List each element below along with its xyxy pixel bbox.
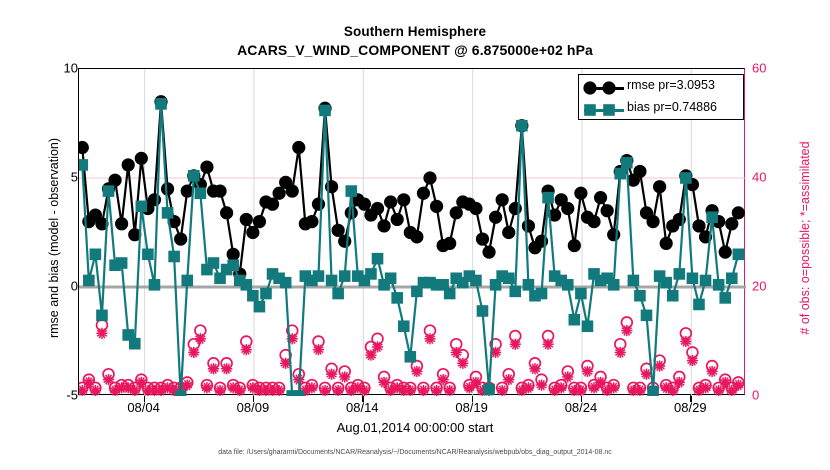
x-tick-mark bbox=[472, 395, 473, 402]
y-axis-label: rmse and bias (model - observation) bbox=[47, 88, 61, 388]
x-tick-mark bbox=[362, 395, 363, 402]
legend-circle-marker-icon bbox=[579, 76, 629, 99]
data-file-caption: data file: /Users/gharamti/Documents/NCA… bbox=[0, 449, 830, 456]
x-tick-label: 08/04 bbox=[127, 400, 160, 415]
figure: Southern Hemisphere ACARS_V_WIND_COMPONE… bbox=[0, 0, 830, 470]
legend-label: rmse pr=3.0953 bbox=[627, 78, 715, 92]
x-tick-label: 08/24 bbox=[565, 400, 598, 415]
y-tick-label: 5 bbox=[18, 170, 78, 185]
x-tick-label: 08/09 bbox=[237, 400, 270, 415]
x-tick-label: 08/19 bbox=[455, 400, 488, 415]
x-tick-label: 08/14 bbox=[346, 400, 379, 415]
y2-tick-label: 0 bbox=[752, 388, 759, 403]
y2-tick-label: 20 bbox=[752, 279, 766, 294]
legend-item[interactable]: rmse pr=3.0953 bbox=[579, 76, 745, 99]
x-tick-label: 08/29 bbox=[674, 400, 707, 415]
y-tick-label: 0 bbox=[18, 279, 78, 294]
y2-tick-label: 40 bbox=[752, 170, 766, 185]
x-tick-mark bbox=[144, 395, 145, 402]
y-tick-label: 10 bbox=[18, 61, 78, 76]
chart-title-line2: ACARS_V_WIND_COMPONENT @ 6.875000e+02 hP… bbox=[0, 42, 830, 58]
x-axis-label: Aug.01,2014 00:00:00 start bbox=[0, 420, 830, 435]
chart-legend: rmse pr=3.0953bias pr=0.74886 bbox=[578, 74, 744, 120]
x-tick-mark bbox=[253, 395, 254, 402]
y2-axis-label: # of obs: o=possible; *=assimilated bbox=[798, 88, 812, 388]
legend-square-marker-icon bbox=[579, 98, 629, 121]
y-tick-label: -5 bbox=[18, 388, 78, 403]
y2-tick-label: 60 bbox=[752, 61, 766, 76]
legend-item[interactable]: bias pr=0.74886 bbox=[579, 98, 745, 121]
chart-title-line1: Southern Hemisphere bbox=[0, 24, 830, 39]
legend-label: bias pr=0.74886 bbox=[627, 100, 717, 114]
x-tick-mark bbox=[690, 395, 691, 402]
x-tick-mark bbox=[581, 395, 582, 402]
